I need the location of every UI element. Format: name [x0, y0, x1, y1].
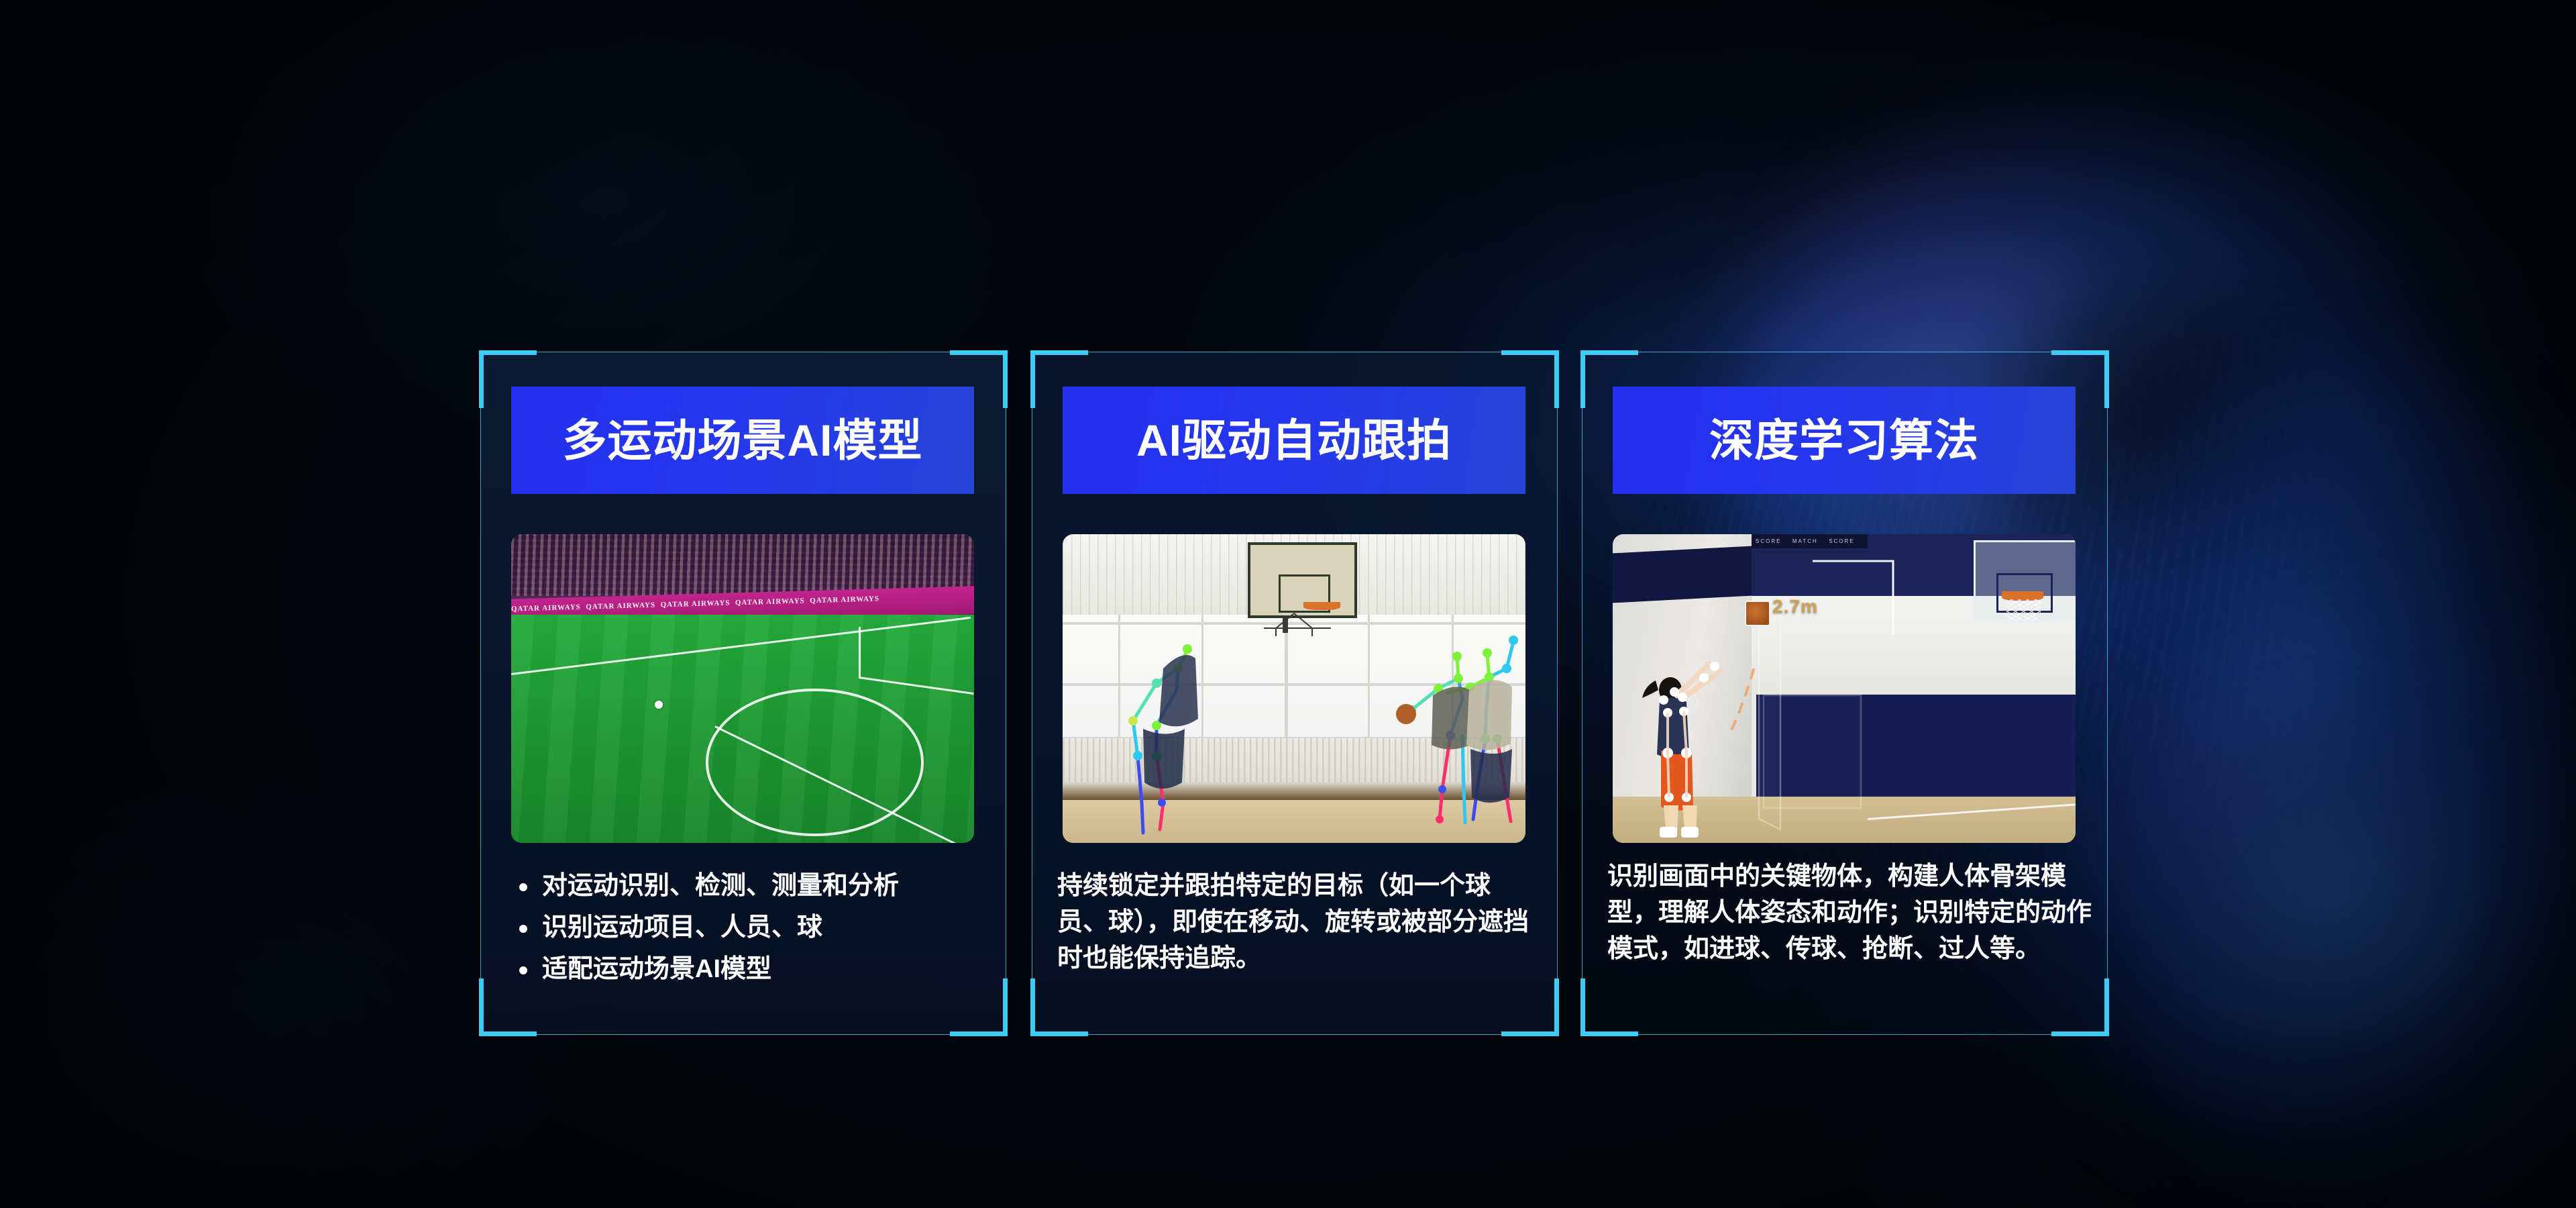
card-description: 持续锁定并跟拍特定的目标（如一个球员、球），即使在移动、旋转或被部分遮挡时也能保… [1057, 868, 1539, 977]
card-media-gym-skeleton [1063, 534, 1525, 843]
card-body-text: 识别画面中的关键物体，构建人体骨架模型，理解人体姿态和动作；识别特定的动作模式，… [1607, 859, 2092, 968]
card-title: 多运动场景AI模型 [563, 418, 923, 462]
card-header-bar: 多运动场景AI模型 [511, 387, 974, 494]
feature-bullet-list: 对运动识别、检测、测量和分析 识别运动项目、人员、球 适配运动场景AI模型 [511, 868, 983, 988]
pitch-center-circle [706, 689, 924, 836]
pose-skeleton-overlay [1063, 534, 1525, 843]
list-item: 识别运动项目、人员、球 [511, 910, 983, 946]
athlete-silhouette [1642, 664, 1720, 838]
crowd-texture [511, 534, 974, 596]
card-title: 深度学习算法 [1709, 418, 1979, 462]
court-scene: SCORE MATCH SCORE [1613, 534, 2076, 843]
card-description: 识别画面中的关键物体，构建人体骨架模型，理解人体姿态和动作；识别特定的动作模式，… [1607, 859, 2092, 968]
height-measurement-label: 2.7m [1772, 596, 1818, 617]
feature-card-multi-sport-ai-model[interactable]: 多运动场景AI模型 QATAR AIRWAYS QATAR AIRWAYS QA… [480, 352, 1006, 1035]
card-media-shot-trajectory: SCORE MATCH SCORE [1613, 534, 2076, 843]
ball-bounding-box [1745, 601, 1771, 627]
card-header-bar: AI驱动自动跟拍 [1063, 387, 1525, 494]
card-body-text: 持续锁定并跟拍特定的目标（如一个球员、球），即使在移动、旋转或被部分遮挡时也能保… [1057, 868, 1539, 977]
list-item: 对运动识别、检测、测量和分析 [511, 868, 983, 905]
card-header-bar: 深度学习算法 [1613, 387, 2076, 494]
list-item: 适配运动场景AI模型 [511, 952, 983, 988]
soccer-scene: QATAR AIRWAYS QATAR AIRWAYS QATAR AIRWAY… [511, 534, 974, 843]
feature-card-group: 多运动场景AI模型 QATAR AIRWAYS QATAR AIRWAYS QA… [0, 0, 2576, 1208]
card-body-text: 对运动识别、检测、测量和分析 识别运动项目、人员、球 适配运动场景AI模型 [511, 868, 983, 993]
feature-card-deep-learning-algorithm[interactable]: 深度学习算法 SCORE MATCH SCORE [1582, 352, 2108, 1035]
gym-scene [1063, 534, 1525, 843]
card-title: AI驱动自动跟拍 [1136, 418, 1452, 462]
basketball [1396, 704, 1416, 724]
pitch-line-vertical [859, 627, 861, 676]
measurement-overlay [1613, 534, 2076, 843]
feature-card-ai-auto-tracking[interactable]: AI驱动自动跟拍 [1032, 352, 1558, 1035]
card-media-soccer-pose-detection: QATAR AIRWAYS QATAR AIRWAYS QATAR AIRWAY… [511, 534, 974, 843]
